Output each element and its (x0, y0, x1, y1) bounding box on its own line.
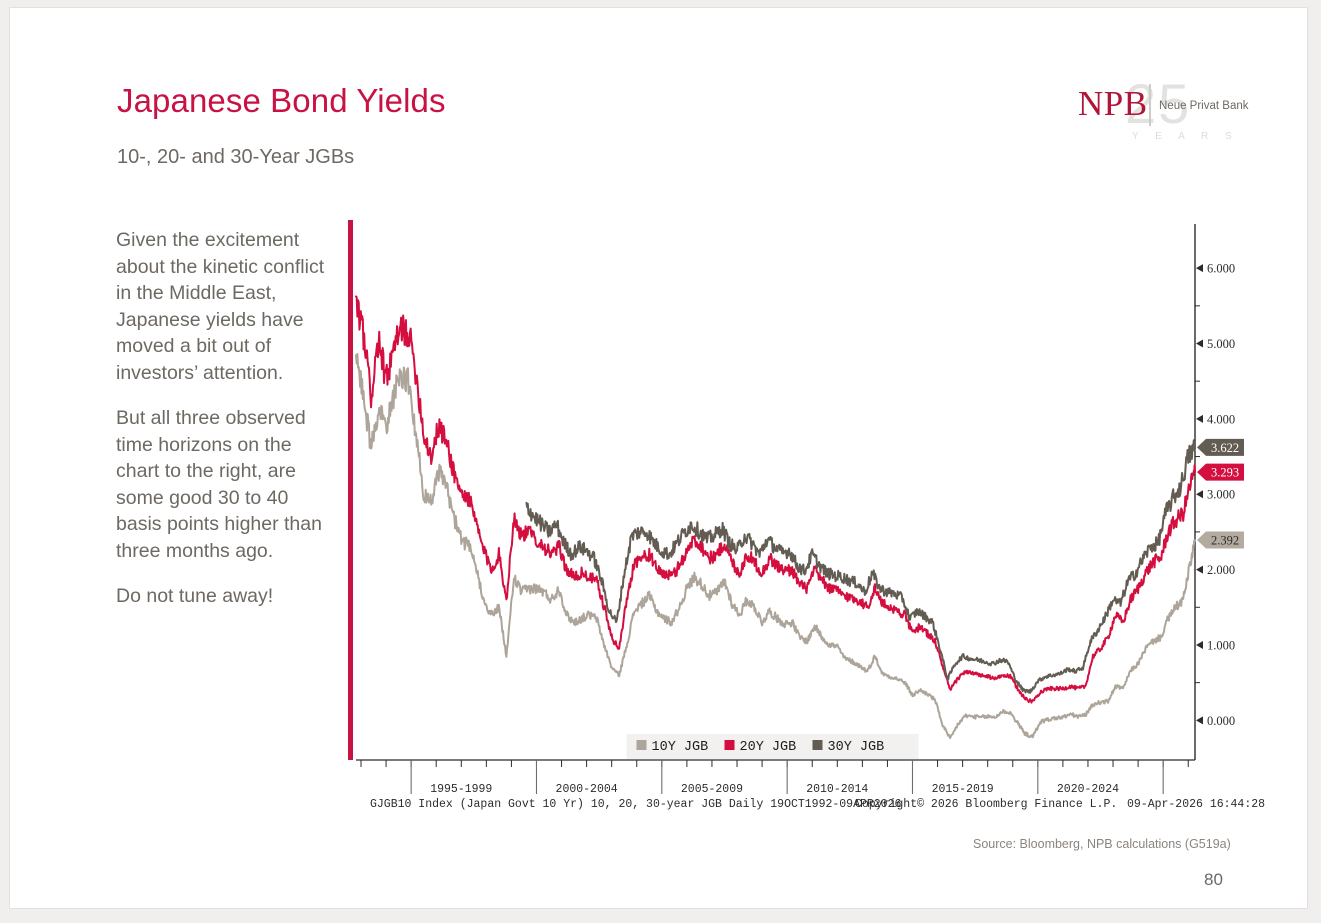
source-note: Source: Bloomberg, NPB calculations (G51… (973, 837, 1231, 851)
y-tick-label: 1.000 (1207, 638, 1235, 652)
y-tick-label: 2.000 (1207, 563, 1235, 577)
y-tick-arrow (1196, 716, 1203, 724)
y-tick-arrow (1196, 566, 1203, 574)
logo-bank-name: Neue Privat Bank (1159, 100, 1249, 112)
logo-mark-npb: NPB (1078, 86, 1148, 121)
value-badge-3.293: 3.293 (1197, 464, 1244, 481)
x-group-label: 2005-2009 (681, 783, 743, 796)
y-tick-label: 6.000 (1207, 262, 1235, 276)
y-tick-label: 0.000 (1207, 714, 1235, 728)
bloomberg-series-line: GJGB10 Index (Japan Govt 10 Yr) 10, 20, … (370, 798, 901, 811)
y-tick-arrow (1196, 264, 1203, 272)
bond-yield-chart: 0.0001.0002.0003.0004.0005.0006.0001995-… (348, 220, 1244, 820)
legend-swatch-2 (813, 740, 823, 750)
series-line-20y-jgb (356, 296, 1195, 702)
commentary-paragraph-1: Given the excitement about the kinetic c… (116, 227, 334, 386)
slide-card: Japanese Bond Yields 10-, 20- and 30-Yea… (10, 8, 1307, 908)
value-badge-3.622: 3.622 (1197, 439, 1244, 456)
y-tick-label: 4.000 (1207, 412, 1235, 426)
npb-logo: 25 Y E A R S NPB Neue Privat Bank (1070, 74, 1250, 154)
badge-label: 2.392 (1211, 534, 1239, 548)
x-group-label: 1995-1999 (430, 783, 492, 796)
legend-swatch-0 (637, 740, 647, 750)
page-number: 80 (1204, 870, 1223, 890)
x-group-label: 2020-2024 (1057, 783, 1119, 796)
page-title: Japanese Bond Yields (117, 82, 446, 120)
value-badge-2.392: 2.392 (1197, 532, 1244, 549)
bloomberg-copyright: Copyright© 2026 Bloomberg Finance L.P. (855, 798, 1117, 811)
legend-label-2: 30Y JGB (828, 740, 885, 755)
chart-left-brand-bar (348, 220, 353, 760)
slide-page: Japanese Bond Yields 10-, 20- and 30-Yea… (0, 0, 1321, 923)
legend-label-1: 20Y JGB (740, 740, 797, 755)
y-tick-label: 3.000 (1207, 488, 1235, 502)
commentary-text: Given the excitement about the kinetic c… (116, 227, 334, 610)
badge-label: 3.622 (1211, 441, 1239, 455)
y-tick-arrow (1196, 490, 1203, 498)
x-group-label: 2010-2014 (806, 783, 868, 796)
badge-label: 3.293 (1211, 466, 1239, 480)
y-tick-arrow (1196, 641, 1203, 649)
x-group-label: 2015-2019 (932, 783, 994, 796)
logo-divider (1149, 84, 1151, 126)
bloomberg-timestamp: 09-Apr-2026 16:44:28 (1127, 798, 1265, 811)
y-tick-arrow (1196, 415, 1203, 423)
anniversary-years-label: Y E A R S (1132, 131, 1239, 142)
commentary-paragraph-3: Do not tune away! (116, 583, 334, 610)
page-subtitle: 10-, 20- and 30-Year JGBs (117, 146, 354, 169)
y-tick-arrow (1196, 340, 1203, 348)
chart-svg: 0.0001.0002.0003.0004.0005.0006.0001995-… (348, 220, 1244, 820)
commentary-paragraph-2: But all three observed time horizons on … (116, 405, 334, 564)
x-group-label: 2000-2004 (556, 783, 618, 796)
legend-swatch-1 (725, 740, 735, 750)
legend-label-0: 10Y JGB (652, 740, 709, 755)
y-tick-label: 5.000 (1207, 337, 1235, 351)
